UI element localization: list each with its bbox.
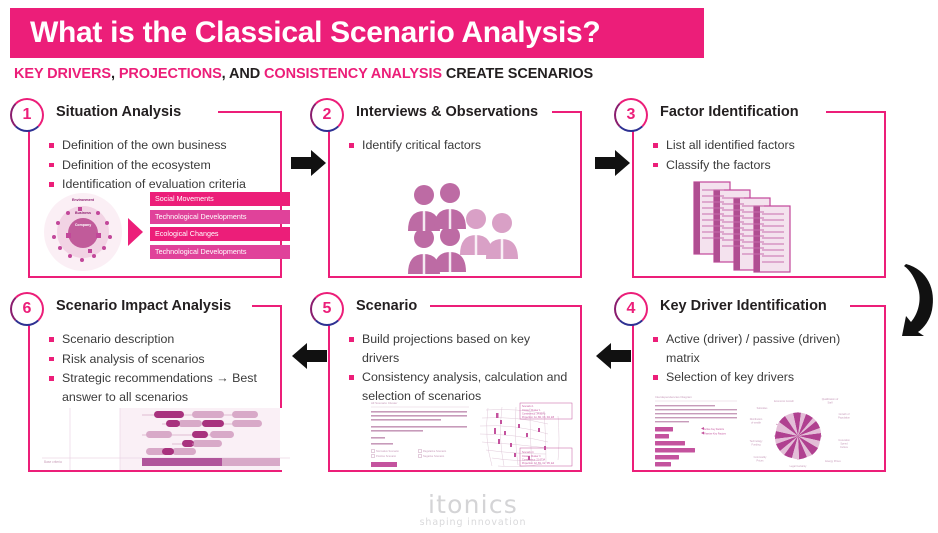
people-group-icon: [404, 175, 544, 280]
legend-item: Normative Scenario: [376, 449, 399, 453]
node-label: Population: [838, 417, 850, 420]
ecosystem-rings-icon: Environment Business Company: [44, 193, 122, 271]
panel-number-label: 1: [23, 107, 32, 123]
node-label: Legal Certainty: [790, 465, 808, 468]
panel-bullet-list: Build projections based on key drivers C…: [348, 330, 568, 406]
factor-bar: Ecological Changes: [150, 227, 290, 241]
list-item: Build projections based on key drivers: [348, 330, 568, 367]
panel-bullet-list: Identify critical factors: [348, 136, 568, 156]
list-item: Selection of key drivers: [652, 368, 872, 387]
callout-title: Scenario 4: [522, 451, 534, 454]
list-item: Scenario description: [48, 330, 268, 349]
subtitle-part-projections: PROJECTIONS: [119, 66, 222, 82]
panel-number-badge: 6: [10, 292, 44, 326]
legend-item: Active Key Factors: [704, 428, 725, 431]
subtitle-part-comma-1: ,: [111, 66, 119, 82]
arrow-right-icon: [291, 148, 327, 178]
node-label: Energy Prices: [825, 460, 841, 463]
subtitle: KEY DRIVERS, PROJECTIONS, AND CONSISTENC…: [14, 66, 593, 82]
stacked-documents-icon: [690, 180, 810, 275]
list-item: Strategic recommendations → Best answer …: [48, 369, 268, 406]
panel-title: Interviews & Observations: [352, 104, 546, 121]
panel-number-badge: 5: [310, 292, 344, 326]
panel-number-label: 6: [23, 301, 32, 317]
legend-item: Negative Scenario: [423, 454, 445, 458]
panel-bullet-list: Definition of the own business Definitio…: [48, 136, 268, 195]
logo-tagline: shaping innovation: [398, 517, 548, 529]
subtitle-part-create-scenarios: CREATE SCENARIOS: [442, 66, 593, 82]
flow-arrow-icon: [128, 218, 143, 246]
panel-number-badge: 4: [614, 292, 648, 326]
factor-bar: Technological Developments: [150, 245, 290, 259]
panel-title: Situation Analysis: [52, 104, 189, 121]
itonics-logo: itonics shaping innovation: [398, 492, 548, 529]
panel-title: Key Driver Identification: [656, 298, 835, 315]
ecosystem-to-factors-diagram: Environment Business Company Social Move…: [40, 192, 290, 274]
logo-wordmark: itonics: [398, 492, 548, 517]
panel-title: Scenario: [352, 298, 425, 315]
panel-bullet-list: List all identified factors Classify the…: [652, 136, 872, 175]
panel-title: Factor Identification: [656, 104, 807, 121]
factor-bar-list: Social Movements Technological Developme…: [150, 192, 290, 262]
list-item: Identify critical factors: [348, 136, 568, 155]
subtitle-part-consistency-analysis: CONSISTENCY ANALYSIS: [264, 66, 442, 82]
list-item: List all identified factors: [652, 136, 872, 155]
node-label: of wealth: [751, 422, 762, 425]
list-item: Definition of the own business: [48, 136, 268, 155]
arrow-right-icon: [595, 148, 631, 178]
node-label: Economic Growth: [774, 400, 794, 403]
node-label: Subsidies: [757, 407, 769, 410]
svg-text:Projection: A1, B2, C3, D4, E5: Projection: A1, B2, C3, D4, E5: [522, 416, 555, 419]
panel-bullet-list: Scenario description Risk analysis of sc…: [48, 330, 268, 407]
node-label: Staff: [827, 402, 832, 405]
panel-number-badge: 1: [10, 98, 44, 132]
node-label: Culture: [840, 446, 849, 449]
subtitle-part-key-drivers: KEY DRIVERS: [14, 66, 111, 82]
list-item: Risk analysis of scenarios: [48, 350, 268, 369]
list-item: Consistency analysis, calculation and se…: [348, 368, 568, 405]
list-item: Classify the factors: [652, 156, 872, 175]
impact-roadmap-chart: Base criteria: [42, 408, 290, 470]
panel-number-badge: 3: [614, 98, 648, 132]
subtitle-part-comma-2: ,: [222, 66, 229, 82]
svg-text:Projection: A3, B1, C2, D5, E4: Projection: A3, B1, C2, D5, E4: [522, 462, 555, 465]
interdependency-chord-diagram: Interdependencies Diagram Active Key Fac…: [652, 392, 858, 470]
panel-title: Scenario Impact Analysis: [52, 298, 239, 315]
factor-bar: Technological Developments: [150, 210, 290, 224]
legend-item: Regulative Scenario: [423, 449, 447, 453]
page-title: What is the Classical Scenario Analysis?: [30, 16, 600, 50]
subtitle-part-and: AND: [229, 66, 264, 82]
list-item: Active (driver) / passive (driven) matri…: [652, 330, 872, 367]
curved-arrow-down-icon: [896, 262, 938, 340]
legend-item: Positive Scenario: [376, 454, 397, 458]
list-item: Identification of evaluation criteria: [48, 175, 268, 194]
axis-label: Base criteria: [44, 460, 62, 464]
panel-number-label: 3: [627, 107, 636, 123]
node-label: Prices: [757, 460, 765, 463]
thumb-heading: Interdependencies Diagram: [655, 395, 692, 399]
panel-number-label: 4: [627, 301, 636, 317]
node-label: Funding: [751, 444, 761, 447]
panel-number-label: 5: [323, 301, 332, 317]
list-item: Definition of the ecosystem: [48, 156, 268, 175]
legend-item: Passive Key Factors: [704, 433, 727, 436]
panel-number-badge: 2: [310, 98, 344, 132]
panel-number-label: 2: [323, 107, 332, 123]
panel-bullet-list: Active (driver) / passive (driven) matri…: [652, 330, 872, 388]
arrow-left-icon: [595, 341, 631, 371]
scenario-cluster-map: All Scenario Cluster Normative Scenario …: [368, 398, 580, 470]
arrow-left-icon: [291, 341, 327, 371]
title-banner: What is the Classical Scenario Analysis?: [10, 8, 704, 58]
ecosystem-symbols: [44, 193, 122, 271]
